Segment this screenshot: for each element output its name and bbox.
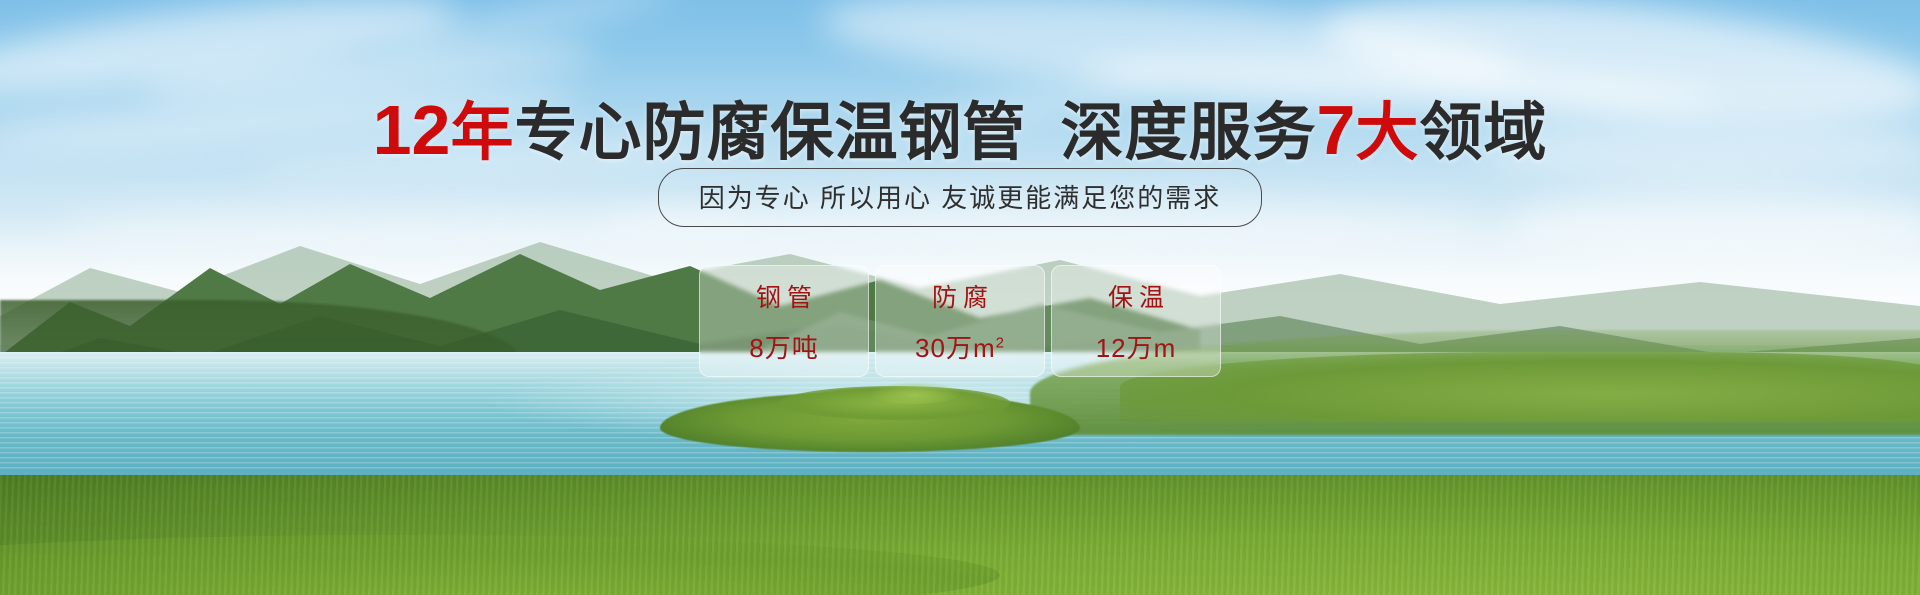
subtitle-container: 因为专心 所以用心 友诚更能满足您的需求: [0, 168, 1920, 227]
headline-fields-number: 7: [1316, 91, 1355, 169]
headline-years-number: 12: [373, 91, 451, 169]
stat-card-label: 钢管: [750, 278, 818, 314]
banner-content: 12年专心防腐保温钢管深度服务7大领域 因为专心 所以用心 友诚更能满足您的需求…: [0, 0, 1920, 595]
stat-card-value-main: 30万m: [915, 333, 996, 363]
stat-card-value: 30万m2: [915, 328, 1005, 365]
stat-card: 保温 12万m: [1051, 265, 1221, 377]
stat-card-value-main: 12万m: [1096, 333, 1177, 363]
stat-card-value: 8万吨: [749, 328, 818, 365]
stat-card: 钢管 8万吨: [699, 265, 869, 377]
headline-fields-text: 领域: [1419, 98, 1547, 168]
headline-years-unit: 年: [450, 98, 514, 168]
headline: 12年专心防腐保温钢管深度服务7大领域: [0, 82, 1920, 173]
headline-main-text: 专心防腐保温钢管: [514, 98, 1026, 168]
stat-card-value-main: 8万吨: [749, 333, 818, 363]
stat-card-value: 12万m: [1096, 328, 1177, 365]
promo-banner: 12年专心防腐保温钢管深度服务7大领域 因为专心 所以用心 友诚更能满足您的需求…: [0, 0, 1920, 595]
stat-card-value-exponent: 2: [996, 334, 1005, 351]
headline-service-text: 深度服务: [1060, 98, 1316, 168]
stat-card-label: 保温: [1102, 278, 1170, 314]
stat-cards: 钢管 8万吨 防腐 30万m2 保温 12万m: [0, 265, 1920, 377]
stat-card-label: 防腐: [926, 278, 994, 314]
subtitle-pill: 因为专心 所以用心 友诚更能满足您的需求: [658, 168, 1262, 227]
stat-card: 防腐 30万m2: [875, 265, 1045, 377]
headline-fields-unit: 大: [1355, 98, 1419, 168]
